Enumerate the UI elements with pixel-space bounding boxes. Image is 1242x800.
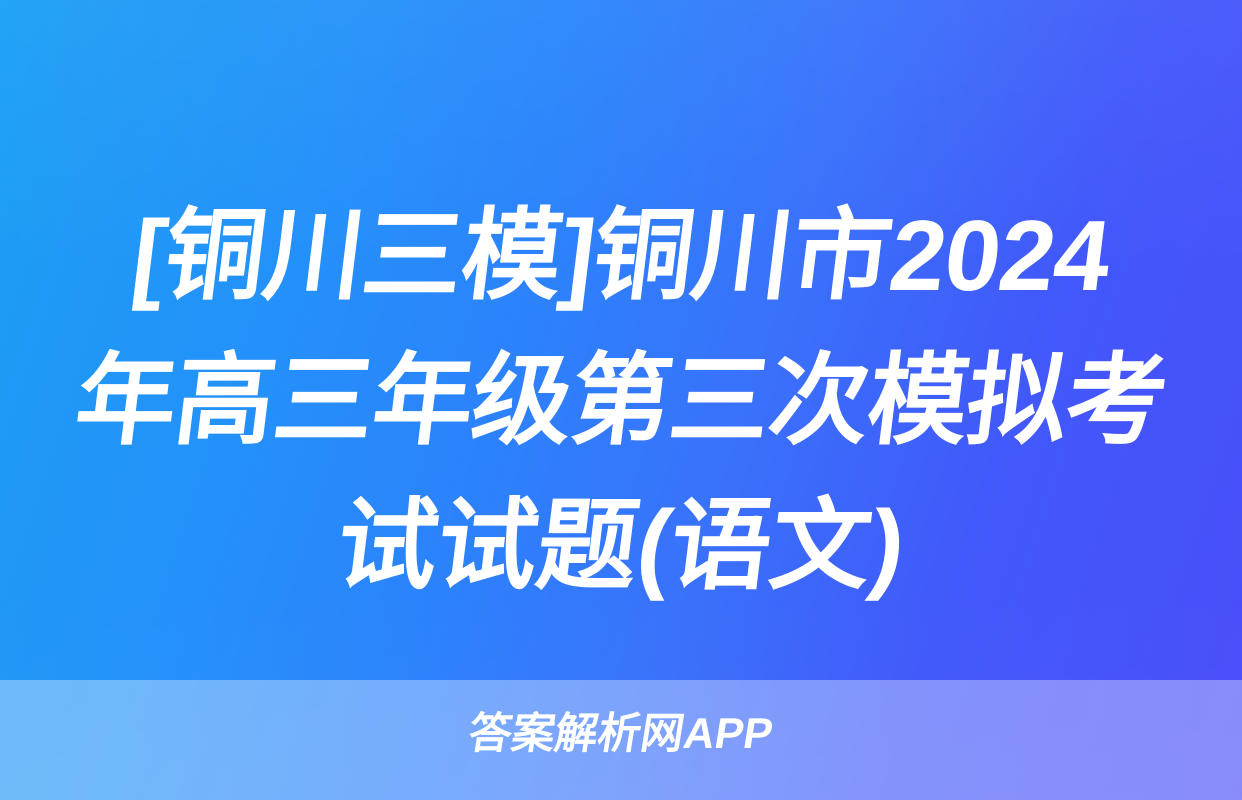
title-line-2: 年高三年级第三次模拟考	[37, 329, 1205, 474]
poster-title: [铜川三模]铜川市2024 年高三年级第三次模拟考 试试题(语文)	[0, 184, 1242, 619]
title-line-1: [铜川三模]铜川市2024	[37, 184, 1205, 329]
title-line-3: 试试题(语文)	[37, 474, 1205, 619]
poster-card: [铜川三模]铜川市2024 年高三年级第三次模拟考 试试题(语文) 答案解析网A…	[0, 0, 1242, 800]
footer-brand-row: 答案解析网APP	[0, 705, 1242, 763]
app-brand-label: 答案解析网APP	[465, 708, 777, 760]
